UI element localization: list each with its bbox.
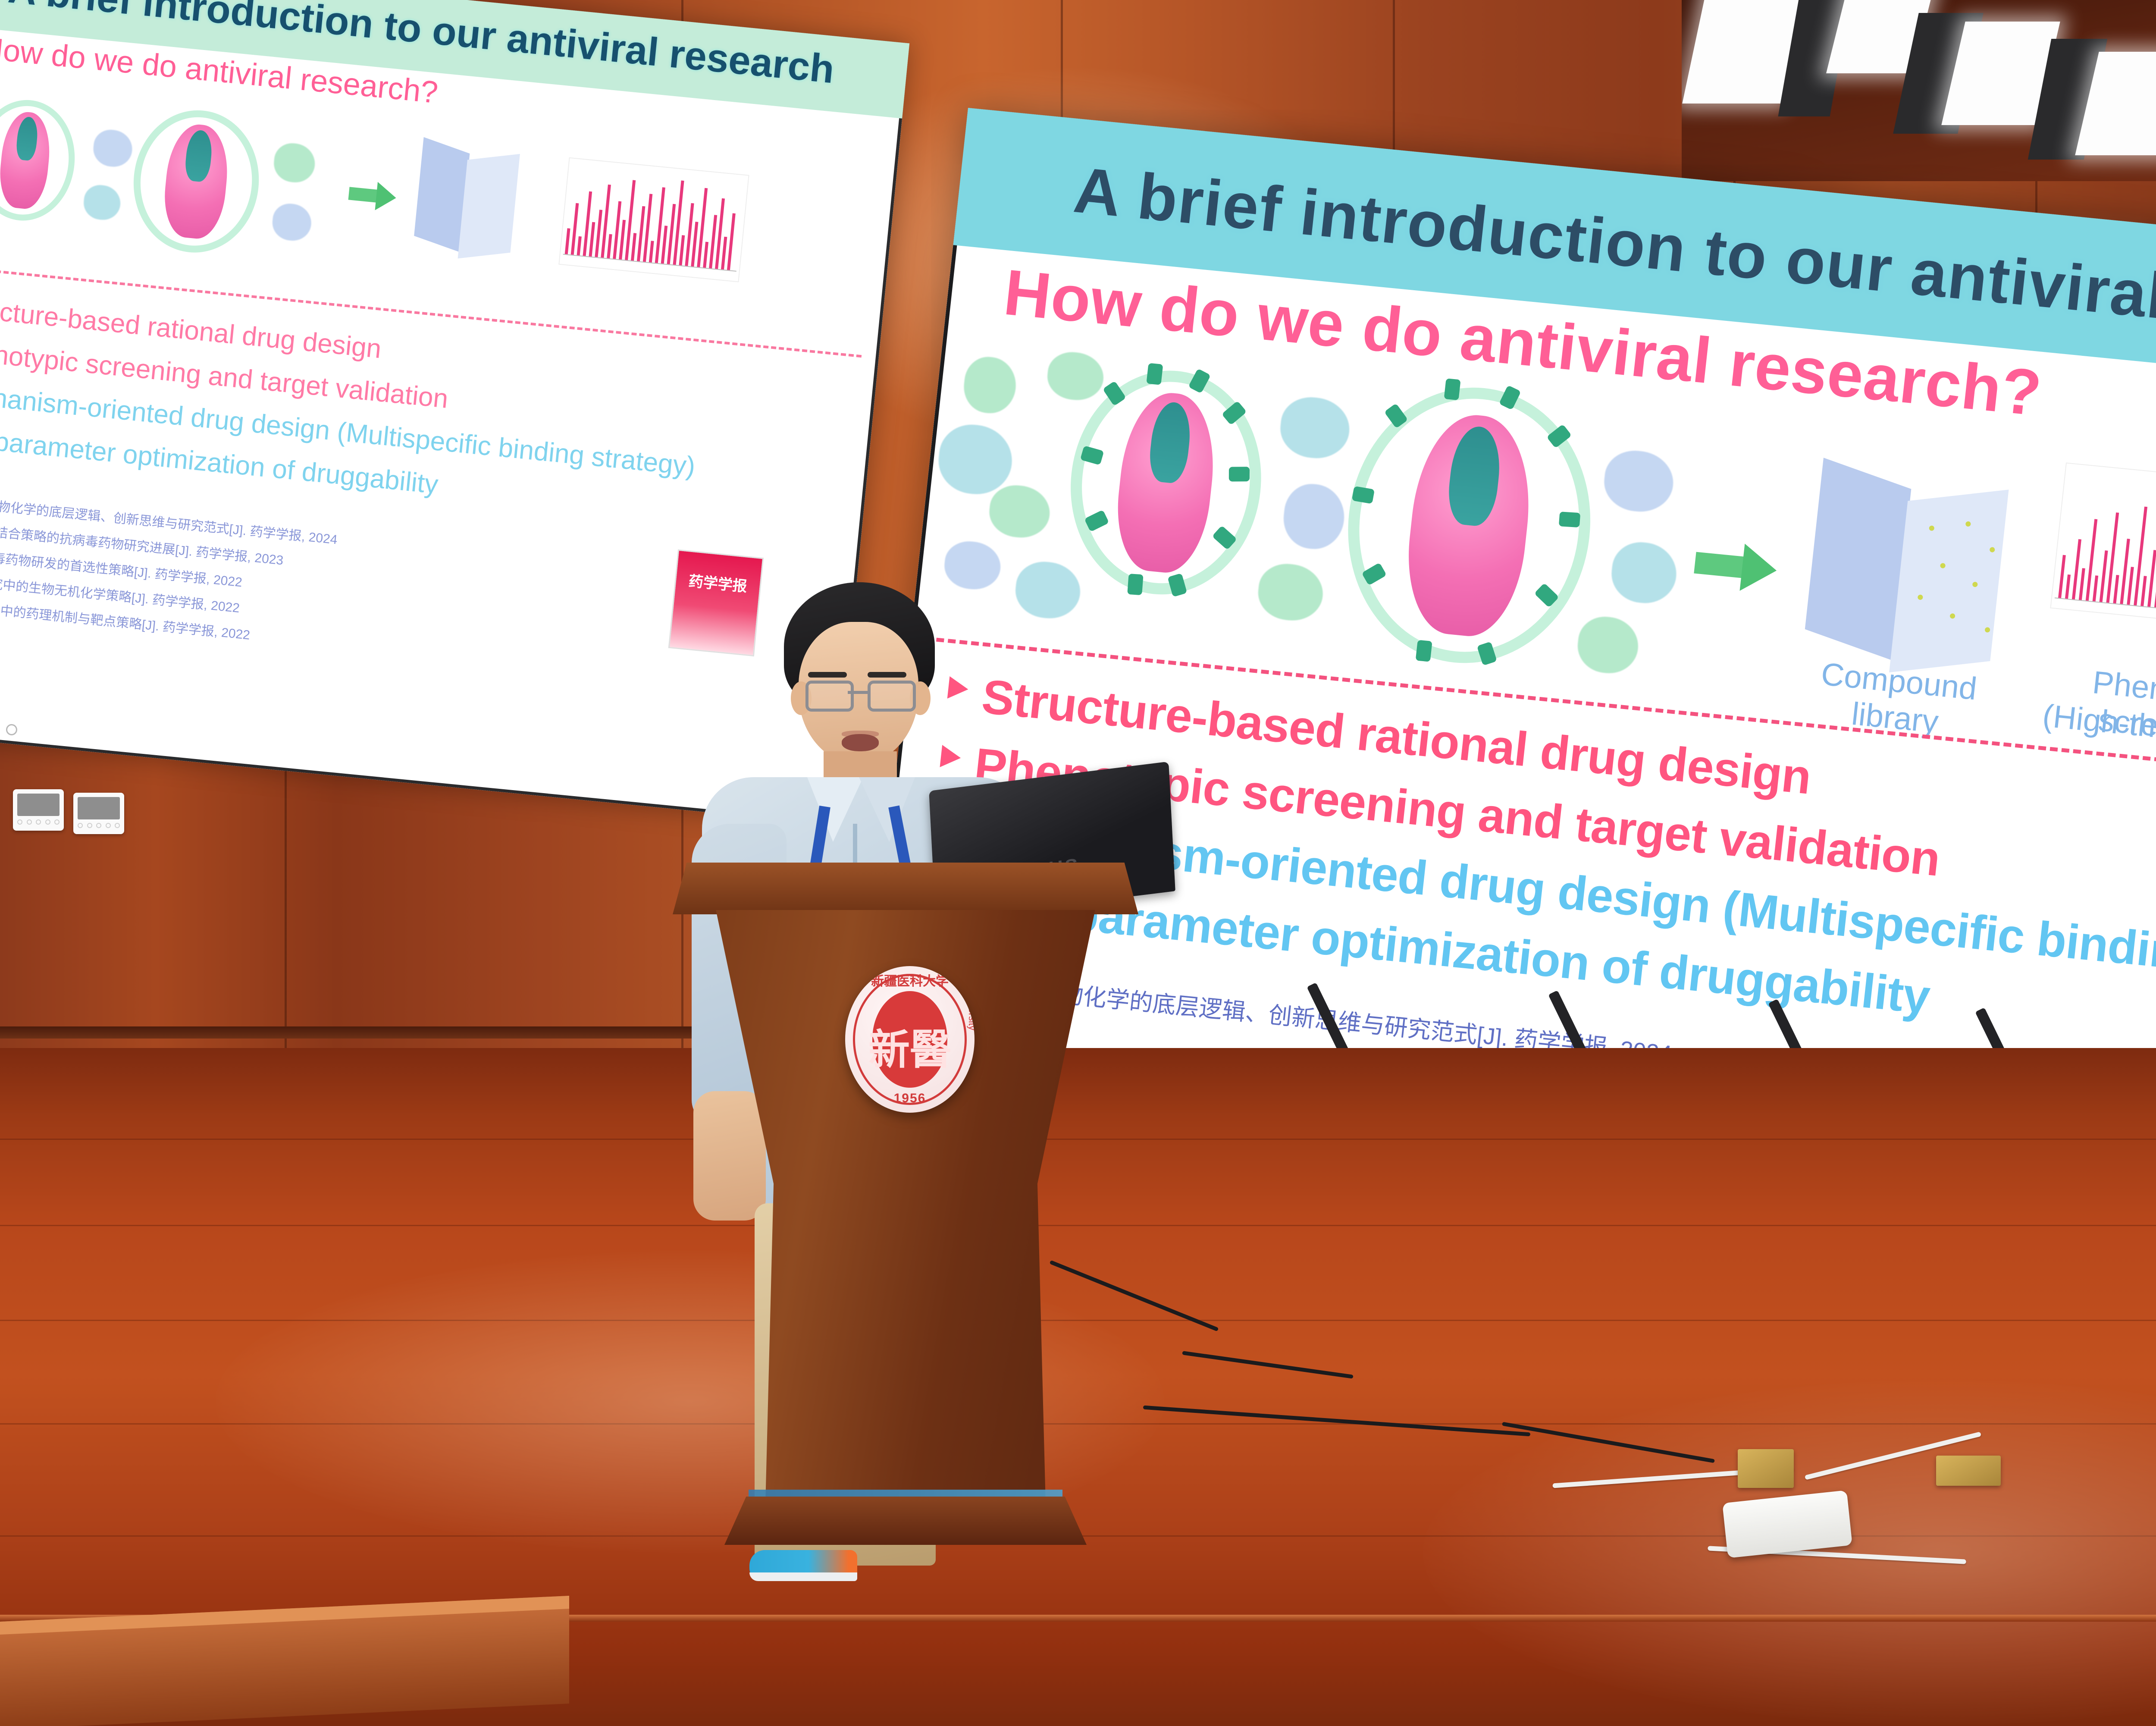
conference-hall-scene: A brief introduction to our antiviral re… xyxy=(0,0,2156,1726)
thermostat-display xyxy=(78,797,120,819)
podium-top xyxy=(673,863,1138,914)
virus-structure-illustration xyxy=(1334,377,1604,675)
green-arrow-icon xyxy=(348,179,398,212)
wall-thermostat-controller[interactable] xyxy=(13,789,64,831)
speaker-mouth xyxy=(842,734,879,751)
emblem-institution-en: Xinjiang Medical University xyxy=(966,966,975,1030)
virus-structure-illustration xyxy=(1059,362,1272,603)
thermostat-display xyxy=(17,794,60,816)
thermostat-buttons[interactable] xyxy=(17,819,60,827)
phenotypic-screening-chart xyxy=(2050,462,2156,632)
thermostat-buttons[interactable] xyxy=(78,823,120,831)
floor-power-outlet[interactable] xyxy=(1936,1456,2001,1486)
eyeglasses-icon xyxy=(868,681,916,712)
podium-base xyxy=(724,1497,1087,1545)
university-emblem: 新疆医科大学 新醫 Xinjiang Medical University 19… xyxy=(845,966,975,1113)
ceiling-light-rig xyxy=(1682,0,2156,181)
wall-thermostat-controller[interactable] xyxy=(73,793,124,834)
lectern-podium: 新疆医科大学 新醫 Xinjiang Medical University 19… xyxy=(673,863,1138,1570)
floor-power-outlet[interactable] xyxy=(1738,1449,1794,1488)
emblem-institution-cn: 新疆医科大学 xyxy=(845,970,975,989)
compound-library-cube xyxy=(412,143,530,265)
emblem-seal-characters: 新醫 xyxy=(845,1016,975,1076)
green-arrow-icon xyxy=(1692,539,1779,594)
compound-library-cube xyxy=(1802,469,2020,677)
virus-structure-illustration xyxy=(127,104,266,258)
phenotypic-screening-chart xyxy=(558,157,749,282)
eyeglasses-icon xyxy=(805,681,854,712)
emblem-founded-year: 1956 xyxy=(845,1091,975,1106)
more-options-icon[interactable] xyxy=(6,724,18,736)
virus-structure-illustration xyxy=(0,95,80,225)
